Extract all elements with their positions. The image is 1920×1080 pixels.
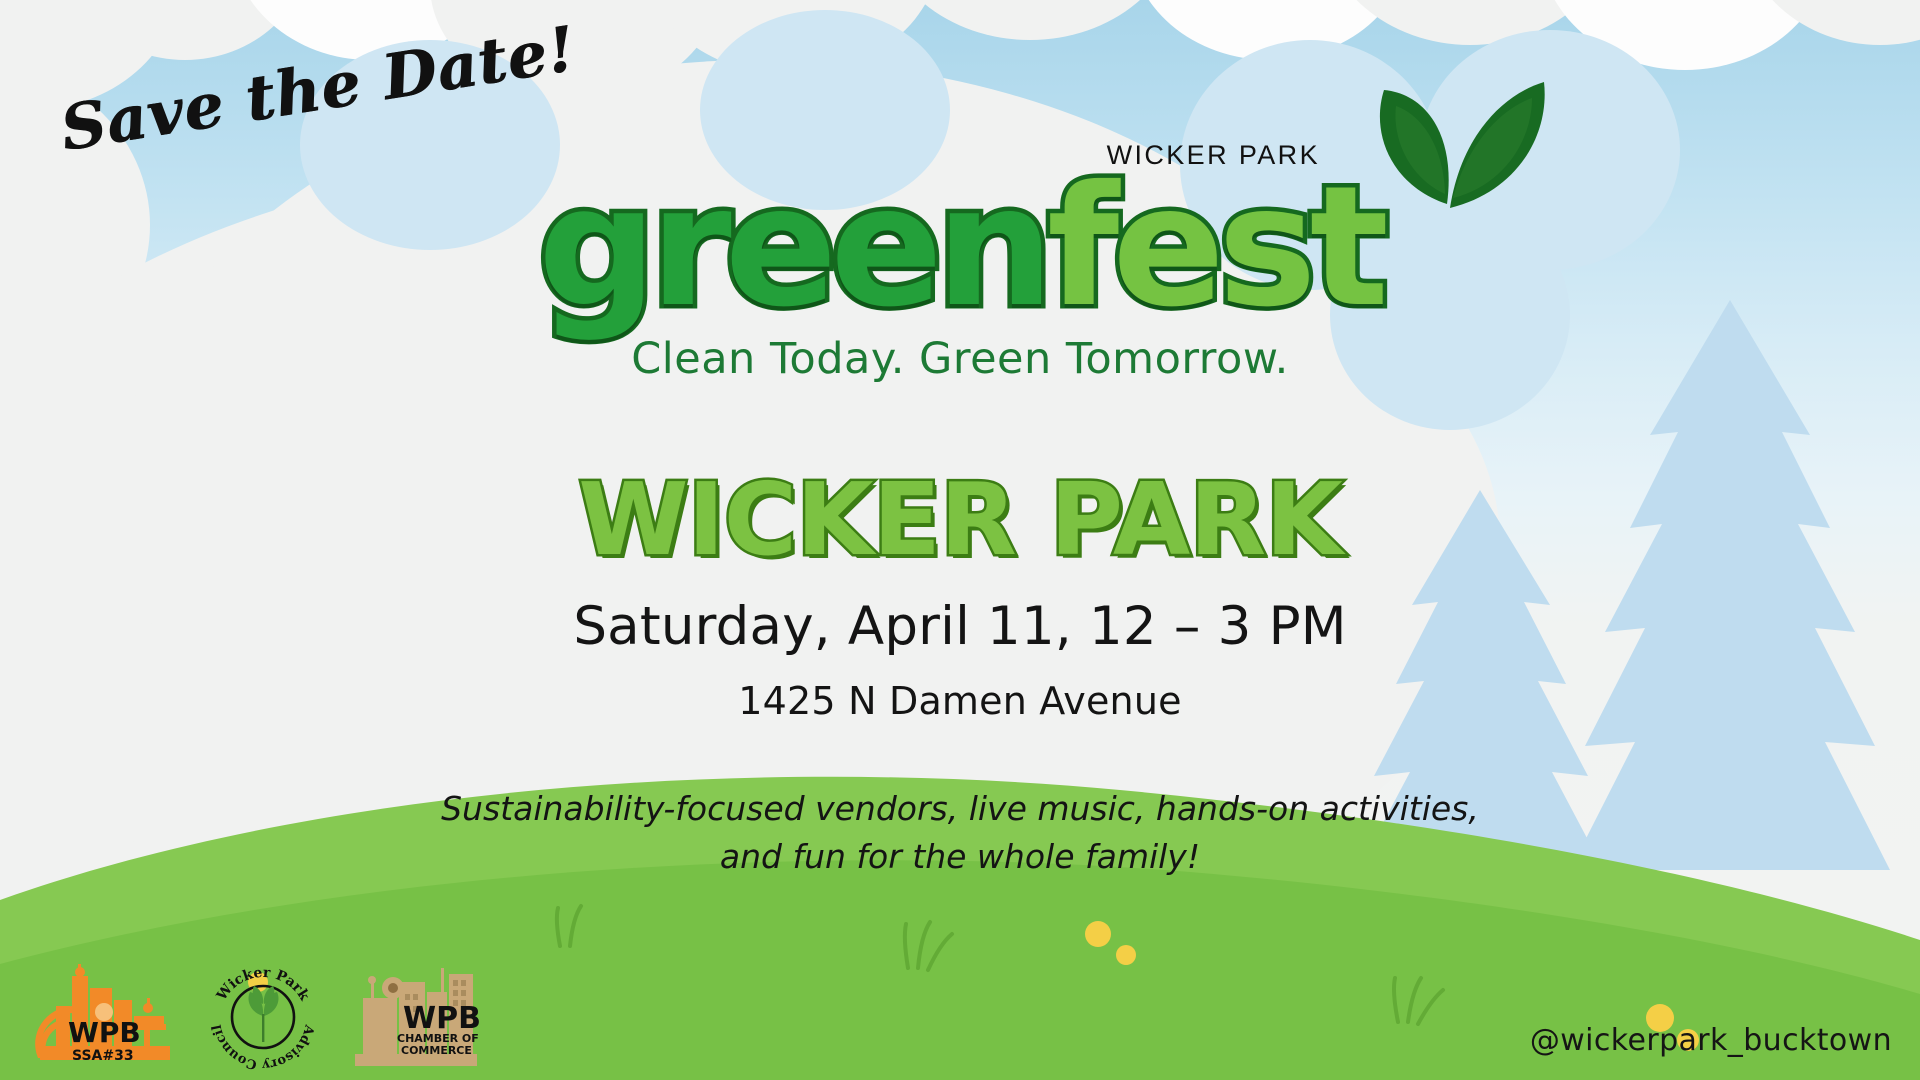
event-location-title: WICKER PARK	[578, 470, 1342, 570]
wpb-ssa-33-logo: WPB SSA#33	[28, 962, 178, 1072]
flyer-canvas: Save the Date! WICKER PARK greenfest Cle…	[0, 0, 1920, 1080]
wordmark-green: green	[538, 151, 1047, 344]
svg-text:WPB: WPB	[68, 1016, 141, 1049]
partner-logos: WPB SSA#33 Wicker Park Advisory Council	[28, 960, 479, 1072]
two-leaf-sprout-icon	[1352, 76, 1552, 211]
greenfest-wordmark-row: WICKER PARK greenfest	[538, 118, 1382, 326]
event-description-line-2: and fun for the whole family!	[441, 833, 1479, 881]
greenfest-wordmark: greenfest	[538, 170, 1382, 326]
logo-kicker-label: WICKER PARK	[1107, 140, 1320, 171]
svg-text:SSA#33: SSA#33	[72, 1048, 134, 1064]
event-datetime: Saturday, April 11, 12 – 3 PM	[573, 596, 1346, 657]
wicker-park-advisory-council-logo: Wicker Park Advisory Council	[206, 960, 321, 1072]
greenfest-logo-block: WICKER PARK greenfest Clean Today. Green…	[0, 118, 1920, 384]
event-address: 1425 N Damen Avenue	[738, 679, 1181, 723]
social-handle: @wickerpark_bucktown	[1530, 1023, 1892, 1058]
svg-text:COMMERCE: COMMERCE	[401, 1044, 472, 1057]
svg-text:WPB: WPB	[403, 1001, 479, 1036]
wordmark-fest: fest	[1047, 151, 1382, 344]
event-details: WICKER PARK Saturday, April 11, 12 – 3 P…	[0, 470, 1920, 881]
wpb-chamber-of-commerce-logo: WPB CHAMBER OF COMMERCE	[349, 964, 479, 1072]
event-description-line-1: Sustainability-focused vendors, live mus…	[441, 785, 1479, 833]
event-description: Sustainability-focused vendors, live mus…	[441, 785, 1479, 881]
